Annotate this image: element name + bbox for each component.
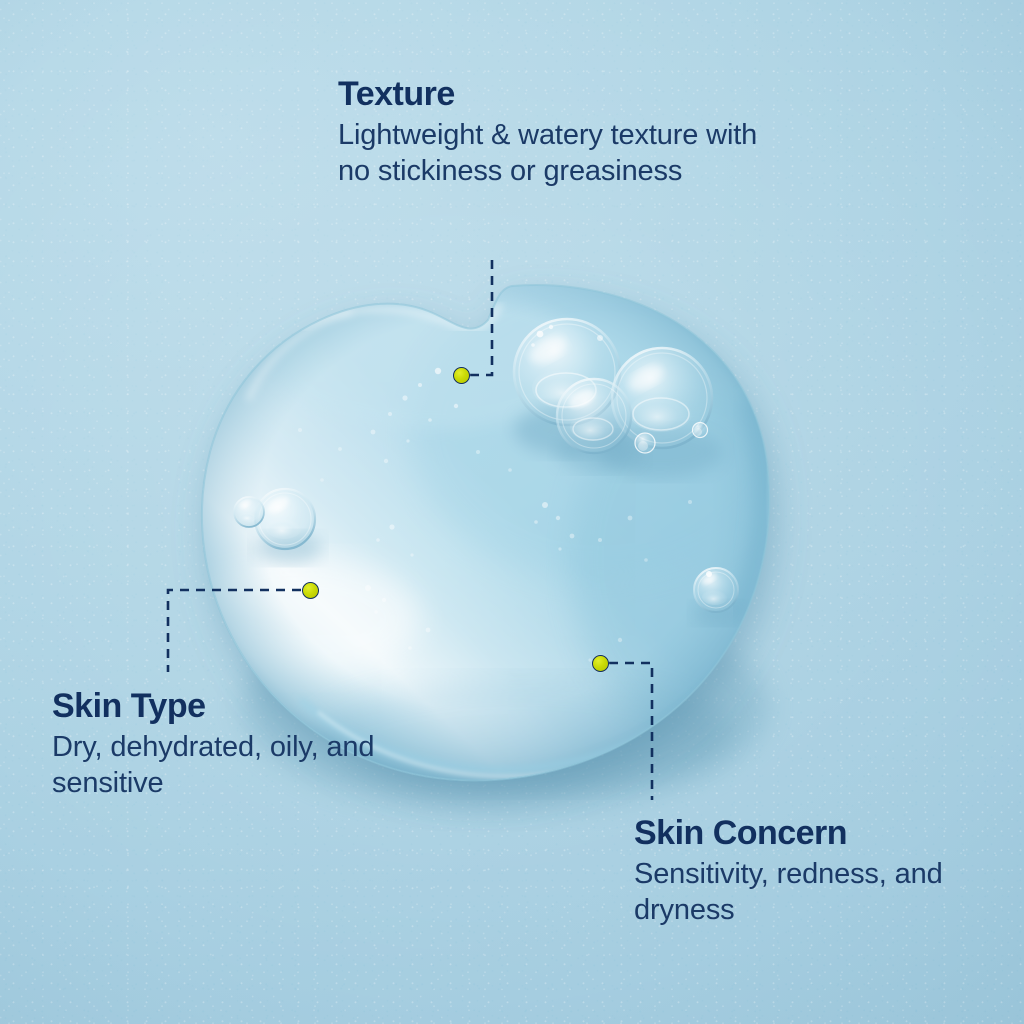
marker-dot-skin-concern[interactable] [592, 655, 609, 672]
marker-dot-skin-type[interactable] [302, 582, 319, 599]
callout-texture-heading: Texture [338, 76, 788, 113]
callout-texture: Texture Lightweight & watery texture wit… [338, 76, 788, 189]
callout-skin-concern-body: Sensitivity, redness, and dryness [634, 856, 994, 929]
callout-skin-type-body: Dry, dehydrated, oily, and sensitive [52, 729, 382, 802]
marker-dot-texture[interactable] [453, 367, 470, 384]
infographic-canvas: Texture Lightweight & watery texture wit… [0, 0, 1024, 1024]
callout-texture-body: Lightweight & watery texture with no sti… [338, 117, 788, 190]
callout-skin-concern-heading: Skin Concern [634, 815, 994, 852]
bubble-medium-c [557, 379, 631, 453]
callout-skin-type: Skin Type Dry, dehydrated, oily, and sen… [52, 688, 382, 801]
callout-skin-type-heading: Skin Type [52, 688, 382, 725]
callout-skin-concern: Skin Concern Sensitivity, redness, and d… [634, 815, 994, 928]
